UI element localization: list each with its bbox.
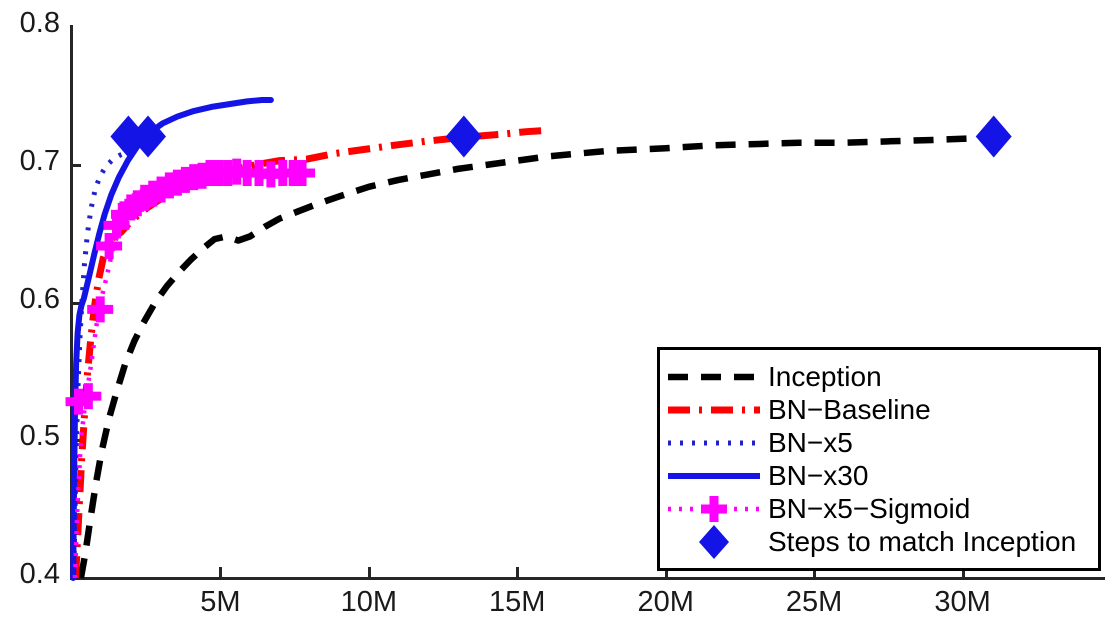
marker-layer	[110, 116, 1011, 158]
legend-label: Steps to match Inception	[768, 528, 1076, 556]
legend-swatch-diamond-marker	[660, 525, 768, 558]
x-tick-label-30M: 30M	[903, 586, 1023, 619]
legend-label: BN−x5	[768, 429, 853, 457]
x-tick-label-15M: 15M	[457, 586, 577, 619]
x-tick-label-5M: 5M	[160, 586, 280, 619]
y-tick-label-0.7: 0.7	[0, 145, 60, 178]
x-tick-label-10M: 10M	[309, 586, 429, 619]
legend-swatch-dashed	[660, 360, 768, 393]
legend-item-steps-to-match-inception[interactable]: Steps to match Inception	[660, 525, 1098, 558]
legend-swatch-dotted	[660, 426, 768, 459]
legend-swatch-dotted-plus	[660, 492, 768, 525]
legend: InceptionBN−BaselineBN−x5BN−x30BN−x5−Sig…	[657, 347, 1101, 571]
figure: 0.80.70.60.50.4 5M10M15M20M25M30M Incept…	[0, 0, 1107, 633]
y-tick-label-0.6: 0.6	[0, 283, 60, 316]
x-tick-label-20M: 20M	[606, 586, 726, 619]
legend-label: BN−x5−Sigmoid	[768, 495, 970, 523]
diamond-marker-3	[446, 116, 482, 158]
legend-label: BN−Baseline	[768, 396, 931, 424]
series-line-bn-x5-sigmoid	[75, 172, 307, 578]
legend-swatch-solid	[660, 459, 768, 492]
y-tick-label-0.8: 0.8	[0, 7, 60, 40]
y-tick-label-0.5: 0.5	[0, 420, 60, 453]
legend-item-bn-x5-sigmoid[interactable]: BN−x5−Sigmoid	[660, 492, 1098, 525]
legend-item-inception[interactable]: Inception	[660, 360, 1098, 393]
legend-label: BN−x30	[768, 462, 868, 490]
legend-label: Inception	[768, 363, 882, 391]
diamond-marker-4	[976, 116, 1012, 158]
x-tick-label-25M: 25M	[754, 586, 874, 619]
legend-item-bn-baseline[interactable]: BN−Baseline	[660, 393, 1098, 426]
y-tick-label-0.4: 0.4	[0, 558, 60, 591]
legend-swatch-dashdot	[660, 393, 768, 426]
legend-item-bn-x5[interactable]: BN−x5	[660, 426, 1098, 459]
legend-item-bn-x30[interactable]: BN−x30	[660, 459, 1098, 492]
